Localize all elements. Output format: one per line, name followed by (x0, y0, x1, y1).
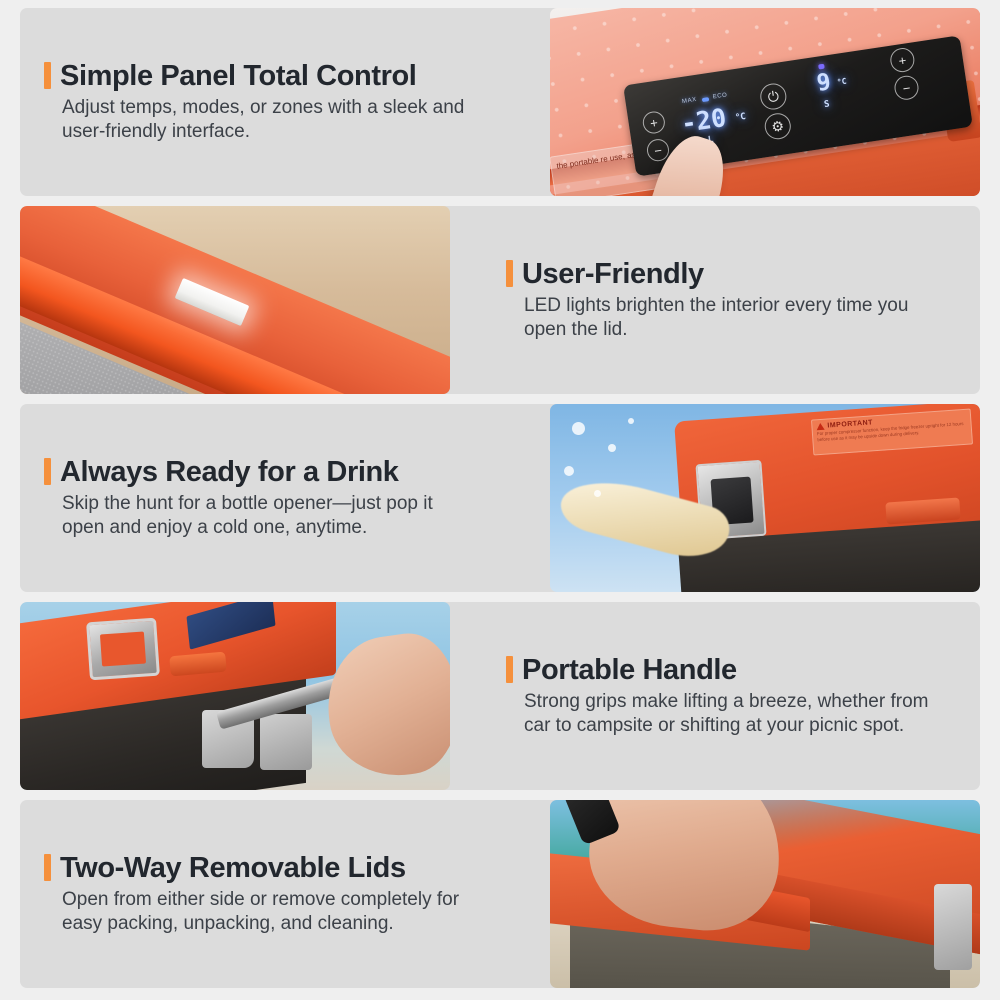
small-zone-label: S (823, 99, 830, 110)
feature-title: Two-Way Removable Lids (60, 853, 406, 883)
feature-description: LED lights brighten the interior every t… (506, 294, 936, 342)
photo-led-lid (20, 206, 450, 394)
power-icon[interactable]: ⏻ (759, 82, 789, 112)
feature-description: Strong grips make lifting a breeze, whet… (506, 690, 936, 738)
small-zone-plus-button[interactable]: + (889, 46, 916, 73)
feature-description: Adjust temps, modes, or zones with a sle… (44, 96, 474, 144)
feature-headline: Simple Panel Total Control (44, 61, 524, 91)
feature-text-pane: Two-Way Removable Lids Open from either … (20, 800, 550, 988)
accent-bar-icon (44, 62, 51, 89)
large-zone-plus-button[interactable]: + (641, 110, 666, 135)
feature-text-pane: Simple Panel Total Control Adjust temps,… (20, 8, 550, 196)
small-zone-minus-button[interactable]: − (893, 74, 920, 101)
feature-description: Open from either side or remove complete… (44, 888, 474, 936)
feature-text-pane: Always Ready for a Drink Skip the hunt f… (20, 404, 550, 592)
gear-icon[interactable]: ⚙ (763, 111, 793, 141)
feature-image-bottle-opener: IMPORTANT For proper compressor function… (550, 404, 980, 592)
accent-bar-icon (44, 854, 51, 881)
mode-indicator-led (702, 97, 710, 102)
accent-bar-icon (506, 656, 513, 683)
photo-bottle-opener: IMPORTANT For proper compressor function… (550, 404, 980, 592)
feature-text-pane: User-Friendly LED lights brighten the in… (450, 206, 980, 394)
feature-title: Portable Handle (522, 655, 737, 685)
feature-image-led-light (20, 206, 450, 394)
mode-max-label: MAX (682, 97, 698, 105)
splash-droplet (564, 466, 574, 476)
splash-droplet (572, 422, 585, 435)
feature-card-simple-panel-total-control: Simple Panel Total Control Adjust temps,… (20, 8, 980, 196)
mode-eco-label: ECO (712, 92, 728, 100)
large-zone-unit: °C (734, 112, 746, 123)
small-zone-unit: °C (836, 77, 847, 87)
feature-card-portable-handle: Portable Handle Strong grips make liftin… (20, 602, 980, 790)
feature-text-pane: Portable Handle Strong grips make liftin… (450, 602, 980, 790)
splash-droplet (608, 444, 616, 452)
hand-pulling-handle (319, 628, 450, 785)
feature-list-page: Simple Panel Total Control Adjust temps,… (0, 0, 1000, 1000)
small-zone-indicator-led (818, 64, 825, 70)
feature-title: Always Ready for a Drink (60, 457, 399, 487)
feature-headline: Always Ready for a Drink (44, 457, 524, 487)
feature-headline: Two-Way Removable Lids (44, 853, 524, 883)
feature-title: User-Friendly (522, 259, 704, 289)
feature-title: Simple Panel Total Control (60, 61, 416, 91)
large-zone-temperature: -20 (679, 103, 728, 138)
feature-card-user-friendly: User-Friendly LED lights brighten the in… (20, 206, 980, 394)
feature-headline: Portable Handle (506, 655, 956, 685)
feature-card-two-way-removable-lids: Two-Way Removable Lids Open from either … (20, 800, 980, 988)
handle-bracket-right (260, 714, 312, 770)
splash-droplet (628, 418, 634, 424)
splash-droplet (594, 490, 601, 497)
feature-image-portable-handle (20, 602, 450, 790)
photo-control-panel: the portable re use, as it + − MAX ECO -… (550, 8, 980, 196)
small-zone-temperature: 9 (815, 69, 833, 97)
feature-image-removable-lid (550, 800, 980, 988)
warning-triangle-icon (816, 423, 824, 431)
side-rail (934, 884, 972, 970)
metal-latch-plate (86, 618, 160, 681)
feature-card-always-ready-for-a-drink: Always Ready for a Drink Skip the hunt f… (20, 404, 980, 592)
photo-portable-handle (20, 602, 450, 790)
photo-removable-lid (550, 800, 980, 988)
accent-bar-icon (44, 458, 51, 485)
feature-image-control-panel: the portable re use, as it + − MAX ECO -… (550, 8, 980, 196)
feature-description: Skip the hunt for a bottle opener—just p… (44, 492, 474, 540)
feature-headline: User-Friendly (506, 259, 956, 289)
accent-bar-icon (506, 260, 513, 287)
